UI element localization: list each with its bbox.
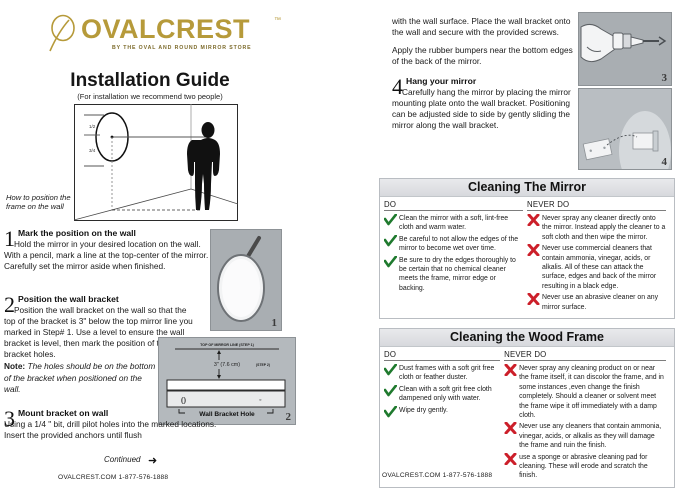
step-3-number: 3 [4,408,15,430]
list-item: Never use an abrasive cleaner on any mir… [527,293,666,312]
list-item: Never use commercial cleaners that conta… [527,244,666,291]
photo-panel-3: 3 [578,12,672,86]
photo-panel-4: 4 [578,88,672,170]
check-icon [384,406,397,418]
page-title: Installation Guide [0,70,300,92]
step-2-heading: Position the wall bracket [18,294,206,304]
check-icon [384,214,397,226]
list-item: Dust frames with a soft grit free cloth … [384,364,500,383]
section-2-never-column: NEVER DO Never spray any cleaning produc… [504,350,670,483]
trademark-symbol: ™ [274,17,281,24]
svg-text:3/4: 3/4 [89,148,96,153]
step-4-number: 4 [392,76,403,98]
check-icon [384,385,397,397]
section-2-do-heading: DO [384,350,500,361]
list-item: use a sponge or abrasive cleaning pad fo… [504,453,666,481]
step-1-number: 1 [4,228,15,250]
svg-text:◦: ◦ [259,396,261,404]
list-item: Never use any cleaners that contain ammo… [504,422,666,450]
section-2-never-heading: NEVER DO [504,350,666,361]
brand-logo: OVALCREST ™ BY THE OVAL AND ROUND MIRROR… [46,14,296,56]
step-2-number: 2 [4,294,15,316]
svg-text:0: 0 [181,396,186,407]
right-column: with the wall surface. Place the wall br… [356,0,679,489]
room-perspective-diagram-icon: 1/2 3/4 [74,104,238,221]
list-item-text: Clean with a soft grit free cloth dampen… [399,385,500,404]
step-1-body: Hold the mirror in your desired location… [4,239,214,272]
list-item-text: Be sure to dry the edges thoroughly to b… [399,256,523,294]
cross-icon [504,453,517,465]
ovalcrest-monogram-icon [46,14,80,52]
cross-icon [504,364,517,376]
brand-wordmark: OVALCREST [81,16,250,43]
cross-icon [527,214,540,226]
svg-text:3" (7.6 cm): 3" (7.6 cm) [214,362,240,368]
photo-3-number: 3 [662,72,668,84]
continued-arrow-icon: ➜ [148,454,157,467]
left-column: OVALCREST ™ BY THE OVAL AND ROUND MIRROR… [0,0,356,489]
photo-panel-1: 1 [210,229,282,331]
svg-text:1/2: 1/2 [89,124,96,129]
check-icon [384,256,397,268]
hanging-mirror-photo-icon [579,89,671,169]
check-icon [384,364,397,376]
step-4-heading: Hang your mirror [406,76,582,86]
svg-text:TOP OF MIRROR LINE (STEP 1): TOP OF MIRROR LINE (STEP 1) [200,343,255,347]
step-2-note-label: Note: [4,361,25,371]
section-cleaning-the-wood-frame: Cleaning the Wood Frame DO Dust frames w… [379,328,675,488]
cross-icon [527,244,540,256]
step-3-body: Using a 1/4 " bit, drill pilot holes int… [4,419,228,441]
list-item-text: Dust frames with a soft grit free cloth … [399,364,500,383]
installation-guide-page: OVALCREST ™ BY THE OVAL AND ROUND MIRROR… [0,0,679,489]
list-item: Be sure to dry the edges thoroughly to b… [384,256,523,294]
page-subtitle: (For installation we recommend two peopl… [0,92,300,101]
continued-label: Continued [104,455,140,464]
step-1: 1 Mark the position on the wall Hold the… [4,228,214,272]
cross-icon [527,293,540,305]
section-2-title: Cleaning the Wood Frame [380,329,674,347]
photo-1-number: 1 [272,317,278,329]
svg-text:(STEP 2): (STEP 2) [256,363,270,367]
list-item-text: Never use any cleaners that contain ammo… [519,422,666,450]
list-item: Never spray any cleaning product on or n… [504,364,666,420]
oval-mirror-photo-icon [211,230,281,330]
step-2-note-text: The holes should be on the bottom of the… [4,361,155,393]
section-1-title: Cleaning The Mirror [380,179,674,197]
step-4: 4 Hang your mirror Carefully hang the mi… [392,76,582,131]
footer-left: OVALCREST.COM 1-877-576-1888 [58,474,168,481]
photo-2-number: 2 [286,411,292,423]
list-item: Never spray any cleaner directly onto th… [527,214,666,242]
list-item-text: Never use an abrasive cleaner on any mir… [542,293,666,312]
list-item: Clean the mirror with a soft, lint-free … [384,214,523,233]
section-1-never-column: NEVER DO Never spray any cleaner directl… [527,200,670,314]
list-item-text: Clean the mirror with a soft, lint-free … [399,214,523,233]
right-paragraph-1: with the wall surface. Place the wall br… [392,16,580,38]
list-item-text: Never spray any cleaning product on or n… [519,364,666,420]
list-item: Wipe dry gently. [384,406,500,418]
section-1-do-column: DO Clean the mirror with a soft, lint-fr… [384,200,527,314]
step-3: 3 Mount bracket on wall Using a 1/4 " bi… [4,408,234,441]
section-1-never-heading: NEVER DO [527,200,666,211]
section-cleaning-the-mirror: Cleaning The Mirror DO Clean the mirror … [379,178,675,319]
list-item-text: Wipe dry gently. [399,406,448,415]
list-item-text: use a sponge or abrasive cleaning pad fo… [519,453,666,481]
list-item-text: Be careful to not allow the edges of the… [399,235,523,254]
check-icon [384,235,397,247]
step-3-heading: Mount bracket on wall [18,408,234,418]
list-item: Be careful to not allow the edges of the… [384,235,523,254]
brand-tagline: BY THE OVAL AND ROUND MIRROR STORE [112,45,252,51]
step-1-heading: Mark the position on the wall [18,228,214,238]
drill-photo-icon [579,13,671,85]
list-item-text: Never use commercial cleaners that conta… [542,244,666,291]
section-2-do-column: DO Dust frames with a soft grit free clo… [384,350,504,483]
cross-icon [504,422,517,434]
list-item: Clean with a soft grit free cloth dampen… [384,385,500,404]
step-2-note: Note: The holes should be on the bottom … [4,361,156,394]
section-1-do-heading: DO [384,200,523,211]
step-4-body: Carefully hang the mirror by placing the… [392,87,578,131]
photo-4-number: 4 [662,156,668,168]
footer-right: OVALCREST.COM 1-877-576-1888 [382,472,492,479]
room-diagram-caption: How to position the frame on the wall [6,193,76,212]
right-paragraph-2: Apply the rubber bumpers near the bottom… [392,45,580,67]
list-item-text: Never spray any cleaner directly onto th… [542,214,666,242]
